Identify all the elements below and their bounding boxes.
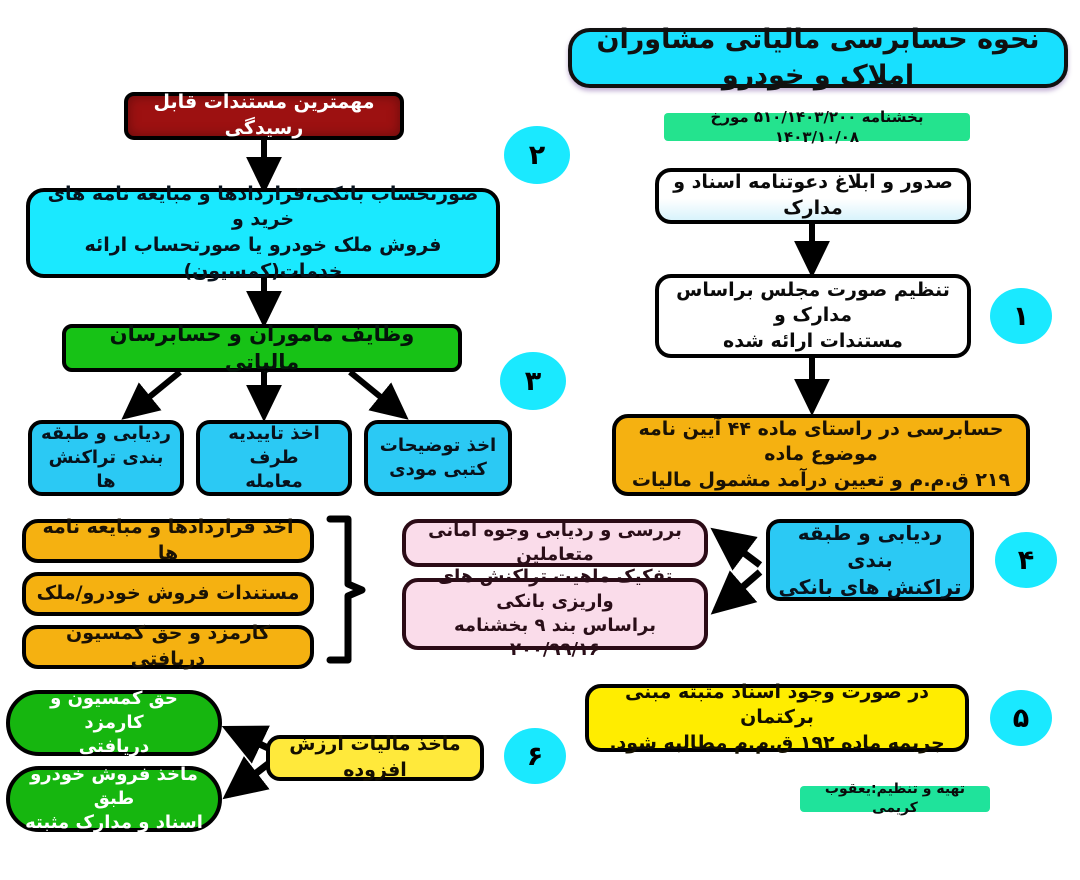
box-vat-base[interactable]: ماخذ مالیات ارزش افزوده — [266, 735, 484, 781]
step-marker-6: ۶ — [504, 728, 566, 784]
box-bank-transaction-tracking[interactable]: ردیابی و طبقه بندی تراکنش های بانکی — [766, 519, 974, 601]
brace-documents-group — [330, 519, 362, 660]
arrow-tracking-to-split-deposits — [716, 572, 760, 610]
box-auditor-duties[interactable]: وظایف ماموران و حسابرسان مالیاتی — [62, 324, 462, 372]
flowchart-canvas: نحوه حسابرسی مالیاتی مشاوران املاک و خود… — [0, 0, 1080, 880]
document-item-commission-fee[interactable]: کارمزد و حق کمسیون دریافتی — [22, 625, 314, 669]
arrow-duties-to-child-right — [350, 372, 404, 416]
arrow-tracking-to-trust-funds — [716, 532, 760, 565]
step-marker-5: ۵ — [990, 690, 1052, 746]
box-invitation-issue[interactable]: صدور و ابلاغ دعوتنامه اسناد و مدارک — [655, 168, 971, 224]
box-deposit-nature-split[interactable]: تفکیک ماهیت تراکنش های واریزی بانکی براس… — [402, 578, 708, 650]
result-commission-received[interactable]: حق کمسیون و کارمزد دریافتی — [6, 690, 222, 756]
box-most-important-documents[interactable]: مهمترین مستندات قابل رسیدگی — [124, 92, 404, 140]
result-vehicle-sale-base[interactable]: ماخذ فروش خودرو طبق اسناد و مدارک مثبته — [6, 766, 222, 832]
arrow-duties-to-child-left — [126, 372, 180, 416]
box-bank-statements-contracts[interactable]: صورتحساب بانکی،قراردادها و مبایعه نامه ه… — [26, 188, 500, 278]
box-audit-article-44[interactable]: حسابرسی در راستای ماده ۴۴ آیین نامه موضو… — [612, 414, 1030, 496]
circular-reference-badge: بخشنامه ۵۱۰/۱۴۰۳/۲۰۰ مورخ ۱۴۰۳/۱۰/۰۸ — [664, 113, 970, 141]
box-penalty-article-192[interactable]: در صورت وجود اسناد مثبته مبنی برکتمان جر… — [585, 684, 969, 752]
document-item-sale-records[interactable]: مستندات فروش خودرو/ملک — [22, 572, 314, 616]
step-marker-4: ۴ — [995, 532, 1057, 588]
author-credit-badge: تهیه و تنظیم:یعقوب کریمی — [800, 786, 990, 812]
duty-child-transaction-tracking[interactable]: ردیابی و طبقه بندی تراکنش ها — [28, 420, 184, 496]
step-marker-1: ۱ — [990, 288, 1052, 344]
step-marker-2: ۲ — [504, 126, 570, 184]
box-trust-funds-review[interactable]: بررسی و ردیابی وجوه امانی متعاملین — [402, 519, 708, 567]
duty-child-counterparty-confirmation[interactable]: اخذ تاییدیه طرف معامله — [196, 420, 352, 496]
arrow-vat-to-sale-base — [228, 764, 268, 795]
document-item-contracts[interactable]: اخذ قراردادها و مبایعه نامه ها — [22, 519, 314, 563]
duty-child-written-explanations[interactable]: اخذ توضیحات کتبی مودی — [364, 420, 512, 496]
step-marker-3: ۳ — [500, 352, 566, 410]
box-minutes-preparation[interactable]: تنظیم صورت مجلس براساس مدارک و مستندات ا… — [655, 274, 971, 358]
page-title: نحوه حسابرسی مالیاتی مشاوران املاک و خود… — [568, 28, 1068, 88]
arrow-vat-to-commission — [228, 729, 268, 748]
